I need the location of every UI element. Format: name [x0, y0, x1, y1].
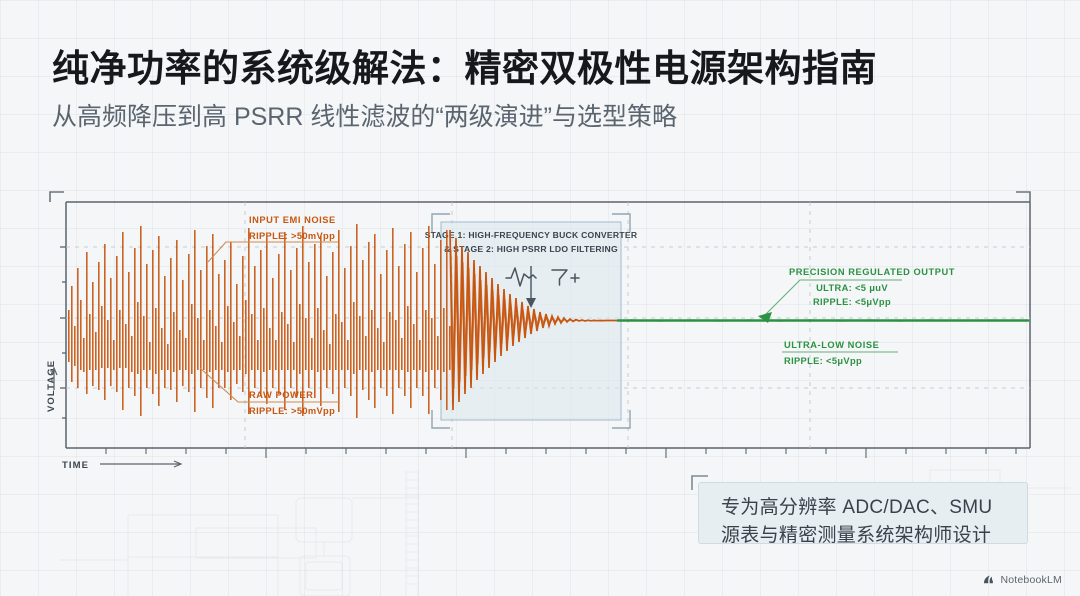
x-axis-ticks — [106, 448, 1016, 458]
callout-box: 专为高分辨率 ADC/DAC、SMU 源表与精密测量系统架构师设计 — [698, 482, 1028, 544]
annotation-precision-output-title: PRECISION REGULATED OUTPUT — [789, 267, 955, 277]
page-subtitle: 从高频降压到高 PSRR 线性滤波的“两级演进”与选型策略 — [52, 102, 1032, 133]
annotation-raw-power-title: RAW POWER — [249, 390, 313, 400]
annotation-input-emi-detail: RIPPLE: >50mVpp — [249, 231, 335, 241]
page-title: 纯净功率的系统级解法：精密双极性电源架构指南 — [52, 46, 1032, 91]
x-axis-label: TIME — [62, 460, 89, 471]
annotation-precision-output-detail-1: ULTRA: <5 μuV — [816, 283, 888, 293]
stage-box-line-2: & STAGE 2: HIGH PSRR LDO FILTERING — [444, 244, 618, 254]
y-axis-ticks — [60, 247, 66, 418]
annotation-raw-power: RAW POWER RIPPLE: >50mVpp — [200, 368, 340, 416]
noise-waveform — [68, 224, 451, 418]
annotation-ultra-low-noise-detail: RIPPLE: <5μVpp — [784, 356, 862, 366]
notebooklm-logo-icon — [982, 573, 995, 586]
annotation-ultra-low-noise-title: ULTRA-LOW NOISE — [784, 340, 879, 350]
brand-footer: NotebookLM — [982, 573, 1062, 586]
annotation-input-emi: INPUT EMI NOISE RIPPLE: >50mVpp — [208, 215, 338, 262]
callout-text: 专为高分辨率 ADC/DAC、SMU 源表与精密测量系统架构师设计 — [721, 494, 1017, 550]
callout-line-2: 源表与精密测量系统架构师设计 — [721, 522, 1017, 550]
callout-line-1: 专为高分辨率 ADC/DAC、SMU — [721, 494, 1017, 522]
frame-corner-brackets — [50, 192, 1030, 202]
brand-name: NotebookLM — [1000, 574, 1062, 586]
annotation-precision-output-detail-2: RIPPLE: <5μVpp — [813, 297, 891, 307]
annotation-ultra-low-noise: ULTRA-LOW NOISE RIPPLE: <5μVpp — [782, 340, 898, 366]
y-axis-label: VOLTAGE — [46, 360, 57, 412]
header: 纯净功率的系统级解法：精密双极性电源架构指南 从高频降压到高 PSRR 线性滤波… — [52, 46, 1032, 133]
annotation-raw-power-detail: RIPPLE: >50mVpp — [249, 406, 335, 416]
signal-chart: STAGE 1: HIGH-FREQUENCY BUCK CONVERTER &… — [40, 190, 1040, 480]
annotation-precision-output: PRECISION REGULATED OUTPUT ULTRA: <5 μuV… — [758, 267, 955, 323]
chart-panel: STAGE 1: HIGH-FREQUENCY BUCK CONVERTER &… — [40, 190, 1040, 470]
annotation-input-emi-title: INPUT EMI NOISE — [249, 215, 336, 225]
